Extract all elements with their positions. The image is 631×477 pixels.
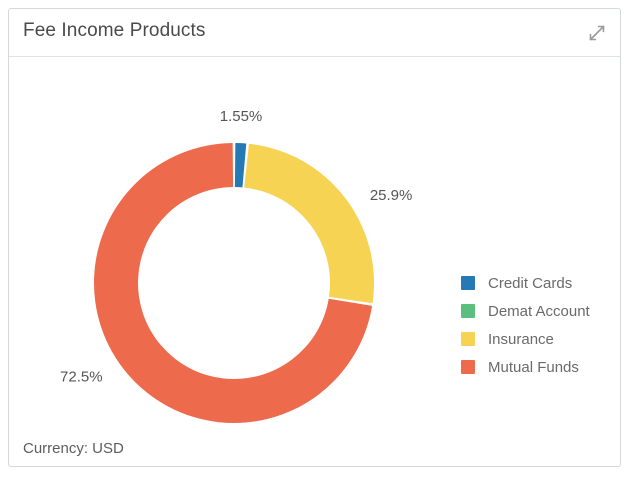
legend-item-credit-cards[interactable]: Credit Cards <box>461 269 611 297</box>
expand-icon[interactable] <box>586 22 608 44</box>
legend-label-insurance: Insurance <box>488 331 554 348</box>
legend-item-mutual-funds[interactable]: Mutual Funds <box>461 353 611 381</box>
legend-label-mutual-funds: Mutual Funds <box>488 359 579 376</box>
donut-value-label: 25.9% <box>370 187 413 204</box>
donut-slice[interactable] <box>244 144 374 303</box>
legend-item-insurance[interactable]: Insurance <box>461 325 611 353</box>
legend-label-demat-account: Demat Account <box>488 303 590 320</box>
legend-swatch-insurance <box>461 332 475 346</box>
page-title: Fee Income Products <box>23 20 205 42</box>
chart-body: 1.55%25.9%72.5% Credit Cards Demat Accou… <box>9 57 620 429</box>
legend-swatch-mutual-funds <box>461 360 475 374</box>
chart-legend: Credit Cards Demat Account Insurance Mut… <box>461 269 611 381</box>
card-footer: Currency: USD <box>9 428 620 466</box>
donut-slice[interactable] <box>235 143 246 187</box>
legend-swatch-demat-account <box>461 304 475 318</box>
fee-income-products-card: Fee Income Products 1.55%25.9%72.5% <box>8 8 621 467</box>
donut-slice-group <box>94 143 374 423</box>
card-header: Fee Income Products <box>9 9 620 57</box>
donut-chart: 1.55%25.9%72.5% <box>9 57 454 429</box>
legend-item-demat-account[interactable]: Demat Account <box>461 297 611 325</box>
donut-value-label: 1.55% <box>220 108 263 125</box>
legend-label-credit-cards: Credit Cards <box>488 275 572 292</box>
currency-note: Currency: USD <box>23 440 124 457</box>
legend-swatch-credit-cards <box>461 276 475 290</box>
donut-value-label: 72.5% <box>60 369 103 386</box>
